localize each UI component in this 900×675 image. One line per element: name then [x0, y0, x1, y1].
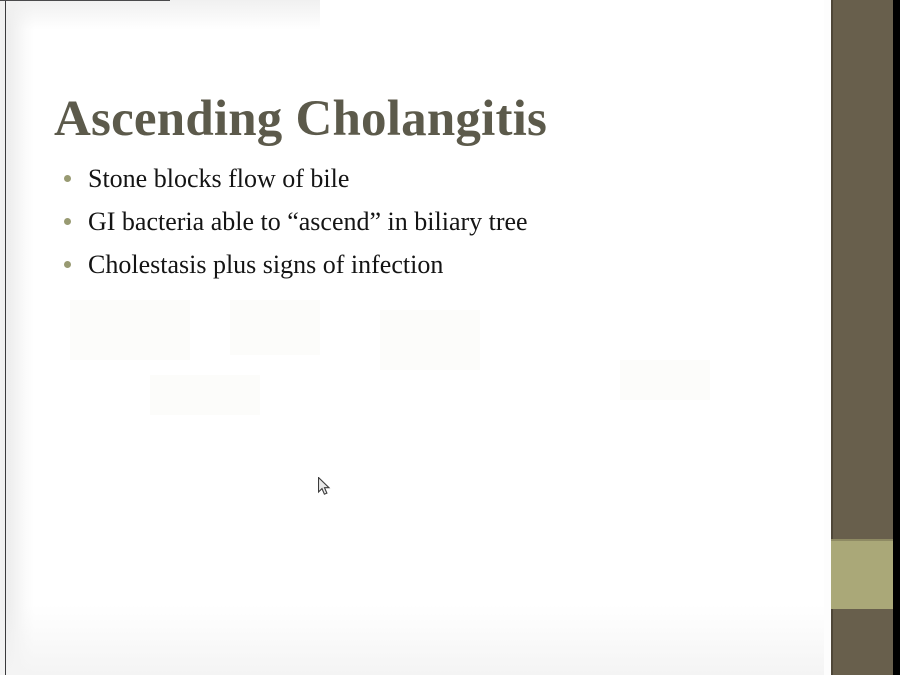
ghost-artifact	[150, 375, 260, 415]
mouse-arrow-pointer-cursor	[318, 477, 332, 497]
bullet-item: Stone blocks flow of bile	[60, 162, 800, 205]
slide-top-edge-shading	[0, 0, 320, 30]
slide-left-rule	[5, 0, 6, 675]
presentation-slide: Ascending Cholangitis Stone blocks flow …	[0, 0, 900, 675]
slide-title: Ascending Cholangitis	[54, 88, 547, 150]
sidebar-accent-block	[831, 541, 893, 609]
slide-bullet-list: Stone blocks flow of bile GI bacteria ab…	[60, 162, 800, 291]
ghost-artifact	[70, 300, 190, 360]
ghost-artifact	[230, 300, 320, 355]
outer-black-border	[893, 0, 900, 675]
bullet-dot-icon	[64, 261, 71, 268]
bullet-dot-icon	[64, 175, 71, 182]
ghost-artifact	[380, 310, 480, 370]
bullet-item-label: Stone blocks flow of bile	[88, 162, 349, 196]
bullet-dot-icon	[64, 218, 71, 225]
slide-top-rule	[0, 0, 170, 1]
bullet-item: GI bacteria able to “ascend” in biliary …	[60, 205, 800, 248]
sidebar-gutter	[824, 0, 831, 675]
bullet-item-label: GI bacteria able to “ascend” in biliary …	[88, 205, 528, 239]
bullet-item: Cholestasis plus signs of infection	[60, 248, 800, 291]
bullet-item-label: Cholestasis plus signs of infection	[88, 248, 443, 282]
slide-bottom-edge-shading	[0, 605, 900, 675]
ghost-artifact	[620, 360, 710, 400]
